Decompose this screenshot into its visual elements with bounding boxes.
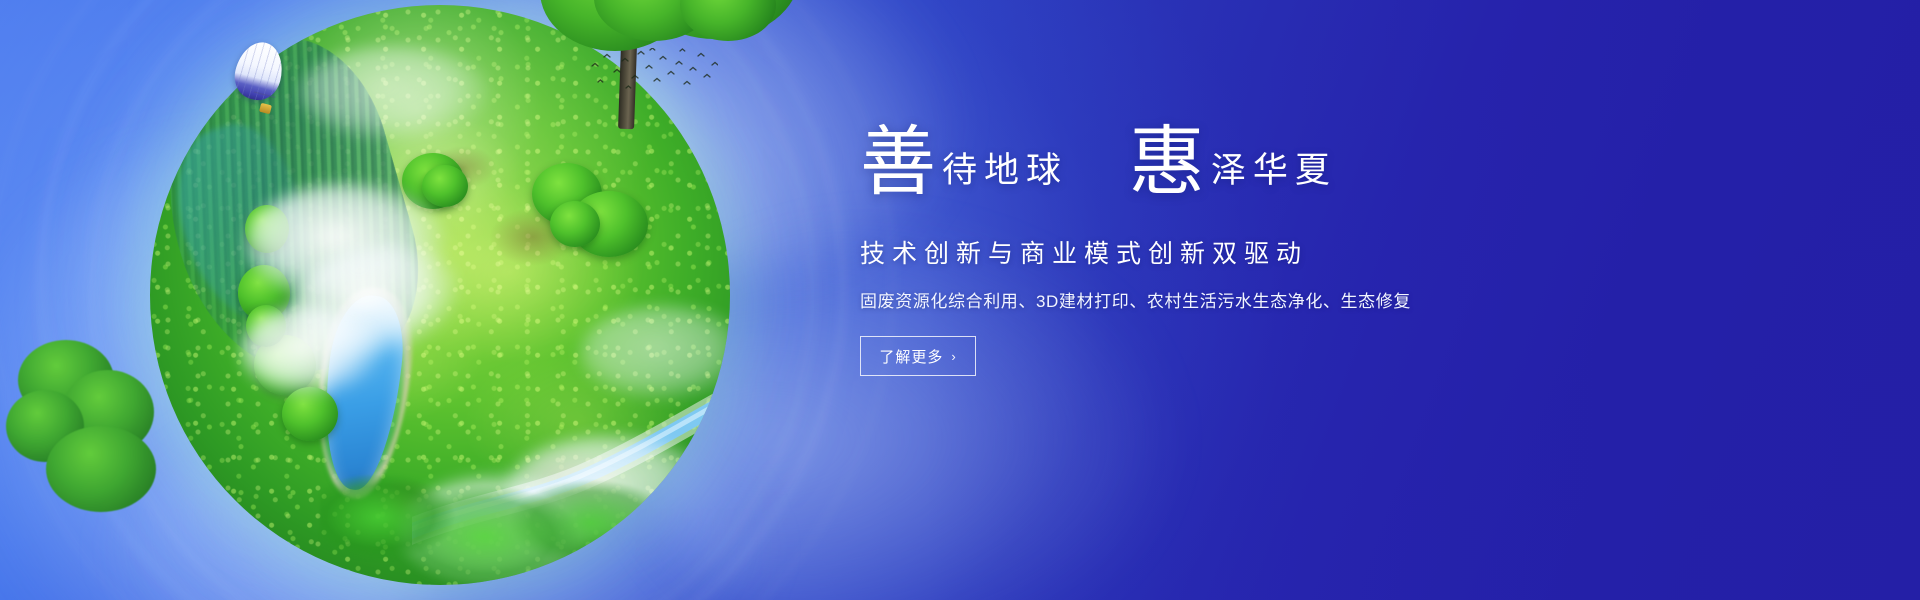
- bird-flock-icon: [588, 48, 718, 92]
- tree-canopy-icon: [550, 201, 600, 247]
- description: 固废资源化综合利用、3D建材打印、农村生活污水生态净化、生态修复: [860, 287, 1560, 312]
- hot-air-balloon-icon: [236, 42, 288, 128]
- rim-foliage: [320, 475, 650, 585]
- headline-small-chars-2: 泽华夏: [1211, 154, 1337, 189]
- headline: 善 待地球 惠 泽华夏: [860, 118, 1560, 218]
- chevron-right-icon: ›: [951, 349, 956, 364]
- hero-banner: 善 待地球 惠 泽华夏 技术创新与商业模式创新双驱动 固废资源化综合利用、3D建…: [0, 0, 1920, 600]
- headline-phrase-1: 善 待地球: [860, 118, 1068, 194]
- banner-content: 善 待地球 惠 泽华夏 技术创新与商业模式创新双驱动 固废资源化综合利用、3D建…: [860, 118, 1560, 376]
- learn-more-label: 了解更多: [879, 346, 943, 367]
- surface-cloud: [240, 305, 380, 397]
- headline-big-char-2: 惠: [1129, 124, 1205, 200]
- foreground-tree-icon: [0, 330, 190, 530]
- headline-phrase-2: 惠 泽华夏: [1129, 118, 1337, 194]
- tree-canopy-icon: [422, 165, 468, 207]
- headline-small-chars-1: 待地球: [942, 154, 1068, 189]
- surface-cloud: [300, 45, 490, 141]
- learn-more-button[interactable]: 了解更多 ›: [860, 336, 976, 376]
- headline-big-char-1: 善: [860, 124, 936, 200]
- subtitle: 技术创新与商业模式创新双驱动: [860, 234, 1560, 270]
